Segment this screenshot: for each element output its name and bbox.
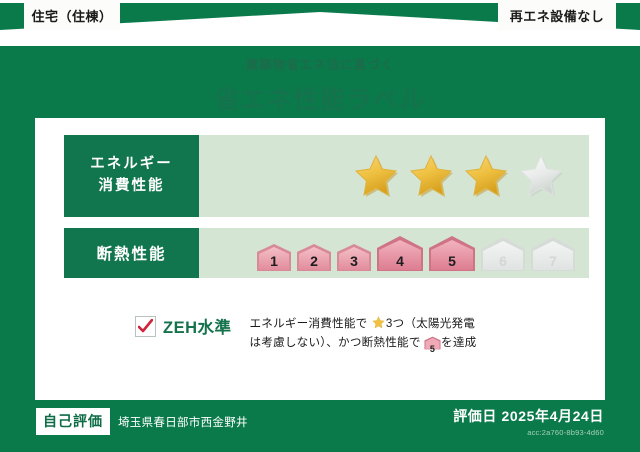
zeh-desc-part2: 3つ（太陽光発電 — [386, 317, 475, 330]
insulation-level-scale: 1 2 3 — [256, 235, 576, 272]
house-level-number: 2 — [296, 253, 332, 269]
star-rating — [350, 150, 567, 202]
house-level-number: 7 — [530, 253, 576, 269]
house-level-number: 4 — [376, 253, 424, 269]
badge-building-type-label: 住宅（住棟） — [31, 6, 112, 25]
page-main-title: 省エネ性能ラベル — [0, 80, 640, 116]
self-evaluation-badge: 自己評価 — [36, 408, 110, 435]
row-energy-performance: エネルギー 消費性能 — [64, 135, 589, 217]
badge-renewable-energy-label: 再エネ設備なし — [510, 6, 605, 25]
house-icon-level-5: 5 — [428, 235, 476, 272]
property-address: 埼玉県春日部市西金野井 — [118, 414, 248, 430]
row-energy-performance-label: エネルギー 消費性能 — [64, 135, 199, 217]
star-icon — [405, 150, 457, 202]
account-id: acc:2a760-8b93-4d60 — [453, 428, 604, 437]
row-energy-label-line1: エネルギー — [90, 154, 173, 176]
house-icon-level-2: 2 — [296, 243, 332, 272]
row-insulation-performance-label: 断熱性能 — [64, 228, 199, 278]
zeh-title: ZEH水準 — [163, 314, 232, 338]
label-card: エネルギー 消費性能 — [35, 118, 605, 400]
house-level-number: 6 — [480, 253, 526, 269]
zeh-desc-part1: エネルギー消費性能で — [250, 317, 368, 330]
energy-performance-label-page: { "badges": { "left": "住宅（住棟）", "right":… — [0, 0, 640, 452]
house-icon-level-7: 7 — [530, 236, 576, 272]
zeh-desc-part3: は考慮しない）、かつ断熱性能で — [250, 336, 421, 349]
house-level-number: 5 — [428, 253, 476, 269]
footer-left: 自己評価 埼玉県春日部市西金野井 — [36, 408, 248, 435]
house-icon-level-3: 3 — [336, 243, 372, 272]
house-icon-inline: 5 — [424, 336, 441, 356]
row-insulation-label-text: 断熱性能 — [96, 242, 166, 264]
house-icon-level-6: 6 — [480, 236, 526, 272]
evaluation-date: 評価日 2025年4月24日 — [453, 406, 604, 426]
star-icon — [350, 150, 402, 202]
footer-right: 評価日 2025年4月24日 acc:2a760-8b93-4d60 — [453, 406, 604, 437]
badge-renewable-energy: 再エネ設備なし — [498, 0, 616, 30]
star-icon — [460, 150, 512, 202]
badge-building-type: 住宅（住棟） — [24, 0, 120, 30]
zeh-section: ZEH水準 エネルギー消費性能で 3つ（太陽光発電 は考慮しない）、かつ断熱性能… — [135, 314, 476, 356]
footer: 自己評価 埼玉県春日部市西金野井 評価日 2025年4月24日 acc:2a76… — [0, 400, 640, 452]
star-icon-empty — [515, 150, 567, 202]
zeh-description: エネルギー消費性能で 3つ（太陽光発電 は考慮しない）、かつ断熱性能で 5 を達… — [250, 314, 477, 356]
row-insulation-performance: 断熱性能 1 — [64, 228, 589, 278]
check-icon — [138, 319, 153, 334]
row-energy-performance-value — [199, 135, 589, 217]
zeh-checkbox[interactable] — [135, 316, 156, 337]
house-icon-level-4: 4 — [376, 235, 424, 272]
page-subtitle: 建築物省エネ法に基づく — [0, 54, 640, 73]
zeh-desc-part4: を達成 — [441, 336, 476, 349]
row-insulation-performance-value: 1 2 3 — [199, 228, 589, 278]
house-inline-number: 5 — [424, 342, 441, 357]
page-title: 建築物省エネ法に基づく 省エネ性能ラベル — [0, 54, 640, 116]
star-icon-inline — [371, 315, 386, 330]
row-energy-label-line2: 消費性能 — [99, 176, 165, 198]
house-level-number: 1 — [256, 253, 292, 269]
house-level-number: 3 — [336, 253, 372, 269]
house-icon-level-1: 1 — [256, 243, 292, 272]
